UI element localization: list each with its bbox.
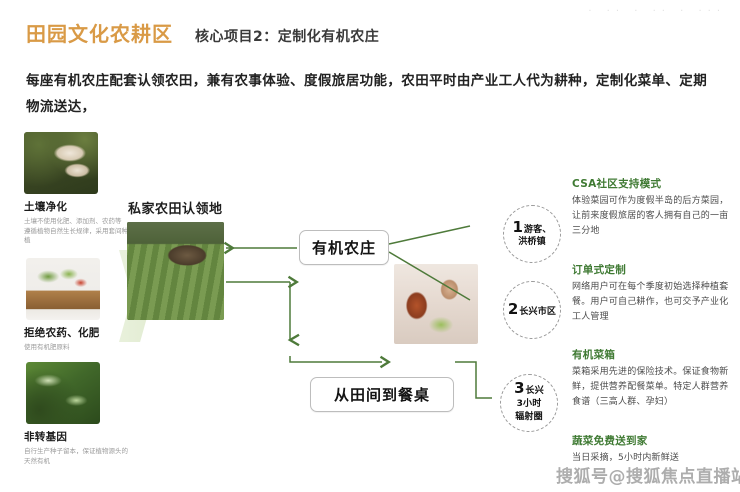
slide-header: 田园文化农耕区 核心项目2：定制化有机农庄 <box>26 18 379 47</box>
info-block-title: 有机菜箱 <box>572 347 732 362</box>
market-circle-1[interactable]: 1 游客、 洪桥镇 <box>503 205 561 263</box>
circle-label-line: 游客、 <box>524 224 552 236</box>
info-block-csa: CSA社区支持模式 体验菜园可作为度假半岛的后方菜园，让前来度假旅居的客人拥有自… <box>572 176 732 239</box>
market-circle-2[interactable]: 2 长兴市区 <box>503 281 561 339</box>
info-block-order-customization: 订单式定制 网络用户可在每个季度初始选择种植套餐。用户可自己耕作，也可交予产业化… <box>572 262 732 325</box>
feature-item-non-gmo: 非转基因 自行生产种子留本，保证植物源头的天然有机 <box>24 362 140 466</box>
circle-label-line: 3小时 <box>517 398 542 411</box>
feature-item-soil: 土壤净化 土壤不使用化肥、添加剂、农药等 遵循植物自然生长规律，采用套间种植 <box>24 132 140 246</box>
private-farm-plot-photo <box>127 222 224 320</box>
plot-label: 私家农田认领地 <box>128 198 223 217</box>
feature-title: 非转基因 <box>24 429 140 444</box>
circle-number: 2 <box>508 303 518 315</box>
market-circle-3[interactable]: 3 长兴 3小时 辐射圈 <box>500 374 558 432</box>
feature-title: 土壤净化 <box>24 199 140 214</box>
feature-description: 土壤不使用化肥、添加剂、农药等 遵循植物自然生长规律，采用套间种植 <box>24 217 130 246</box>
circle-label-line: 洪桥镇 <box>518 236 546 248</box>
top-faint-marks: · ·· · ·· · ··· <box>588 6 726 17</box>
soil-purification-photo <box>24 132 98 194</box>
circle-label-line: 长兴 <box>526 385 544 398</box>
info-block-title: 订单式定制 <box>572 262 732 277</box>
circle-label-line: 长兴市区 <box>519 306 556 318</box>
circle-number: 3 <box>514 382 524 395</box>
circle-number: 1 <box>512 221 522 233</box>
node-farm-to-table[interactable]: 从田间到餐桌 <box>310 377 454 412</box>
slide-canvas: · ·· · ·· · ··· 田园文化农耕区 核心项目2：定制化有机农庄 每座… <box>0 0 740 492</box>
info-block-body: 体验菜园可作为度假半岛的后方菜园，让前来度假旅居的客人拥有自己的一亩三分地 <box>572 194 732 239</box>
circle-label-line: 辐射圈 <box>515 411 543 424</box>
feature-description: 使用有机肥原料 <box>24 343 130 353</box>
info-block-title: 蔬菜免费送到家 <box>572 433 732 448</box>
vegetable-basket-photo <box>26 258 100 320</box>
intro-paragraph: 每座有机农庄配套认领农田，兼有农事体验、度假旅居功能，农田平时由产业工人代为耕种… <box>26 68 716 120</box>
page-title: 田园文化农耕区 <box>26 18 173 47</box>
green-leaves-photo <box>26 362 100 424</box>
info-block-body: 网络用户可在每个季度初始选择种植套餐。用户可自己耕作，也可交予产业化工人管理 <box>572 280 732 325</box>
info-block-body: 菜箱采用先进的保险技术。保证食物新鲜，提供营养配餐菜单。特定人群营养食谱（三高人… <box>572 365 732 410</box>
family-with-vegetables-photo <box>394 264 478 344</box>
watermark: 搜狐号@搜狐焦点直播站 <box>556 462 740 487</box>
info-block-title: CSA社区支持模式 <box>572 176 732 191</box>
page-subtitle: 核心项目2：定制化有机农庄 <box>195 26 379 46</box>
feature-description: 自行生产种子留本，保证植物源头的天然有机 <box>24 447 130 466</box>
info-block-organic-box: 有机菜箱 菜箱采用先进的保险技术。保证食物新鲜，提供营养配餐菜单。特定人群营养食… <box>572 347 732 410</box>
node-organic-farm[interactable]: 有机农庄 <box>299 230 389 265</box>
